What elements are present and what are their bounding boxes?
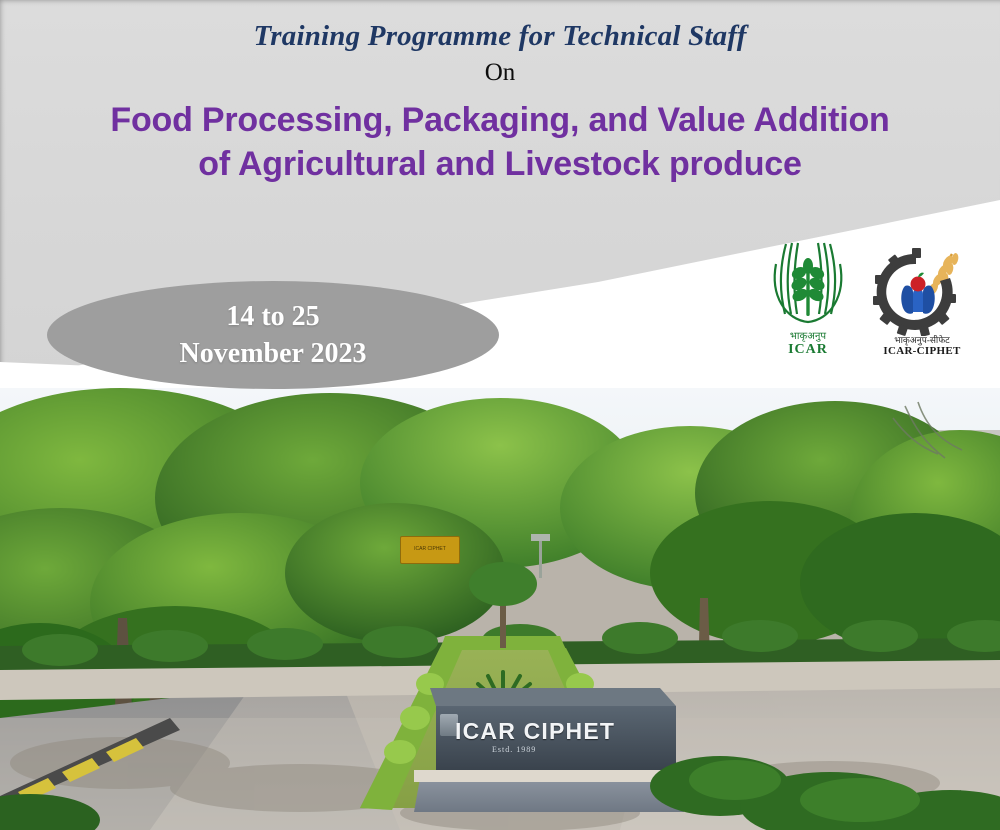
date-month-year: November 2023 <box>180 335 367 372</box>
icar-ciphet-logo-caption: भाकृअनुप-सीफेट ICAR-CIPHET <box>872 336 972 357</box>
poster-canvas: Training Programme for Technical Staff O… <box>0 0 1000 830</box>
title-block: Training Programme for Technical Staff O… <box>0 0 1000 186</box>
date-range: 14 to 25 <box>226 298 319 335</box>
programme-subtitle: Training Programme for Technical Staff <box>0 20 1000 53</box>
icar-logo-caption: भाकृअनुप ICAR <box>760 332 856 357</box>
icar-logo: भाकृअनुप ICAR <box>760 240 856 357</box>
entrance-sign <box>414 688 690 812</box>
logo-group: भाकृअनुप ICAR <box>760 240 972 357</box>
campus-photo: ICAR CIPHET Estd. 1989 ICAR CIPHET <box>0 388 1000 830</box>
on-word: On <box>0 59 1000 87</box>
icar-ciphet-logo: भाकृअनुप-सीफेट ICAR-CIPHET <box>872 248 972 357</box>
programme-title: Food Processing, Packaging, and Value Ad… <box>0 99 1000 186</box>
date-badge: 14 to 25 November 2023 <box>47 281 499 389</box>
programme-title-line1: Food Processing, Packaging, and Value Ad… <box>0 99 1000 143</box>
programme-title-line2: of Agricultural and Livestock produce <box>0 143 1000 187</box>
icar-logo-hindi: भाकृअनुप <box>760 332 856 343</box>
icar-logo-english: ICAR <box>760 343 856 358</box>
icar-ciphet-logo-english: ICAR-CIPHET <box>872 346 972 358</box>
hands-apple-icon <box>901 273 934 314</box>
